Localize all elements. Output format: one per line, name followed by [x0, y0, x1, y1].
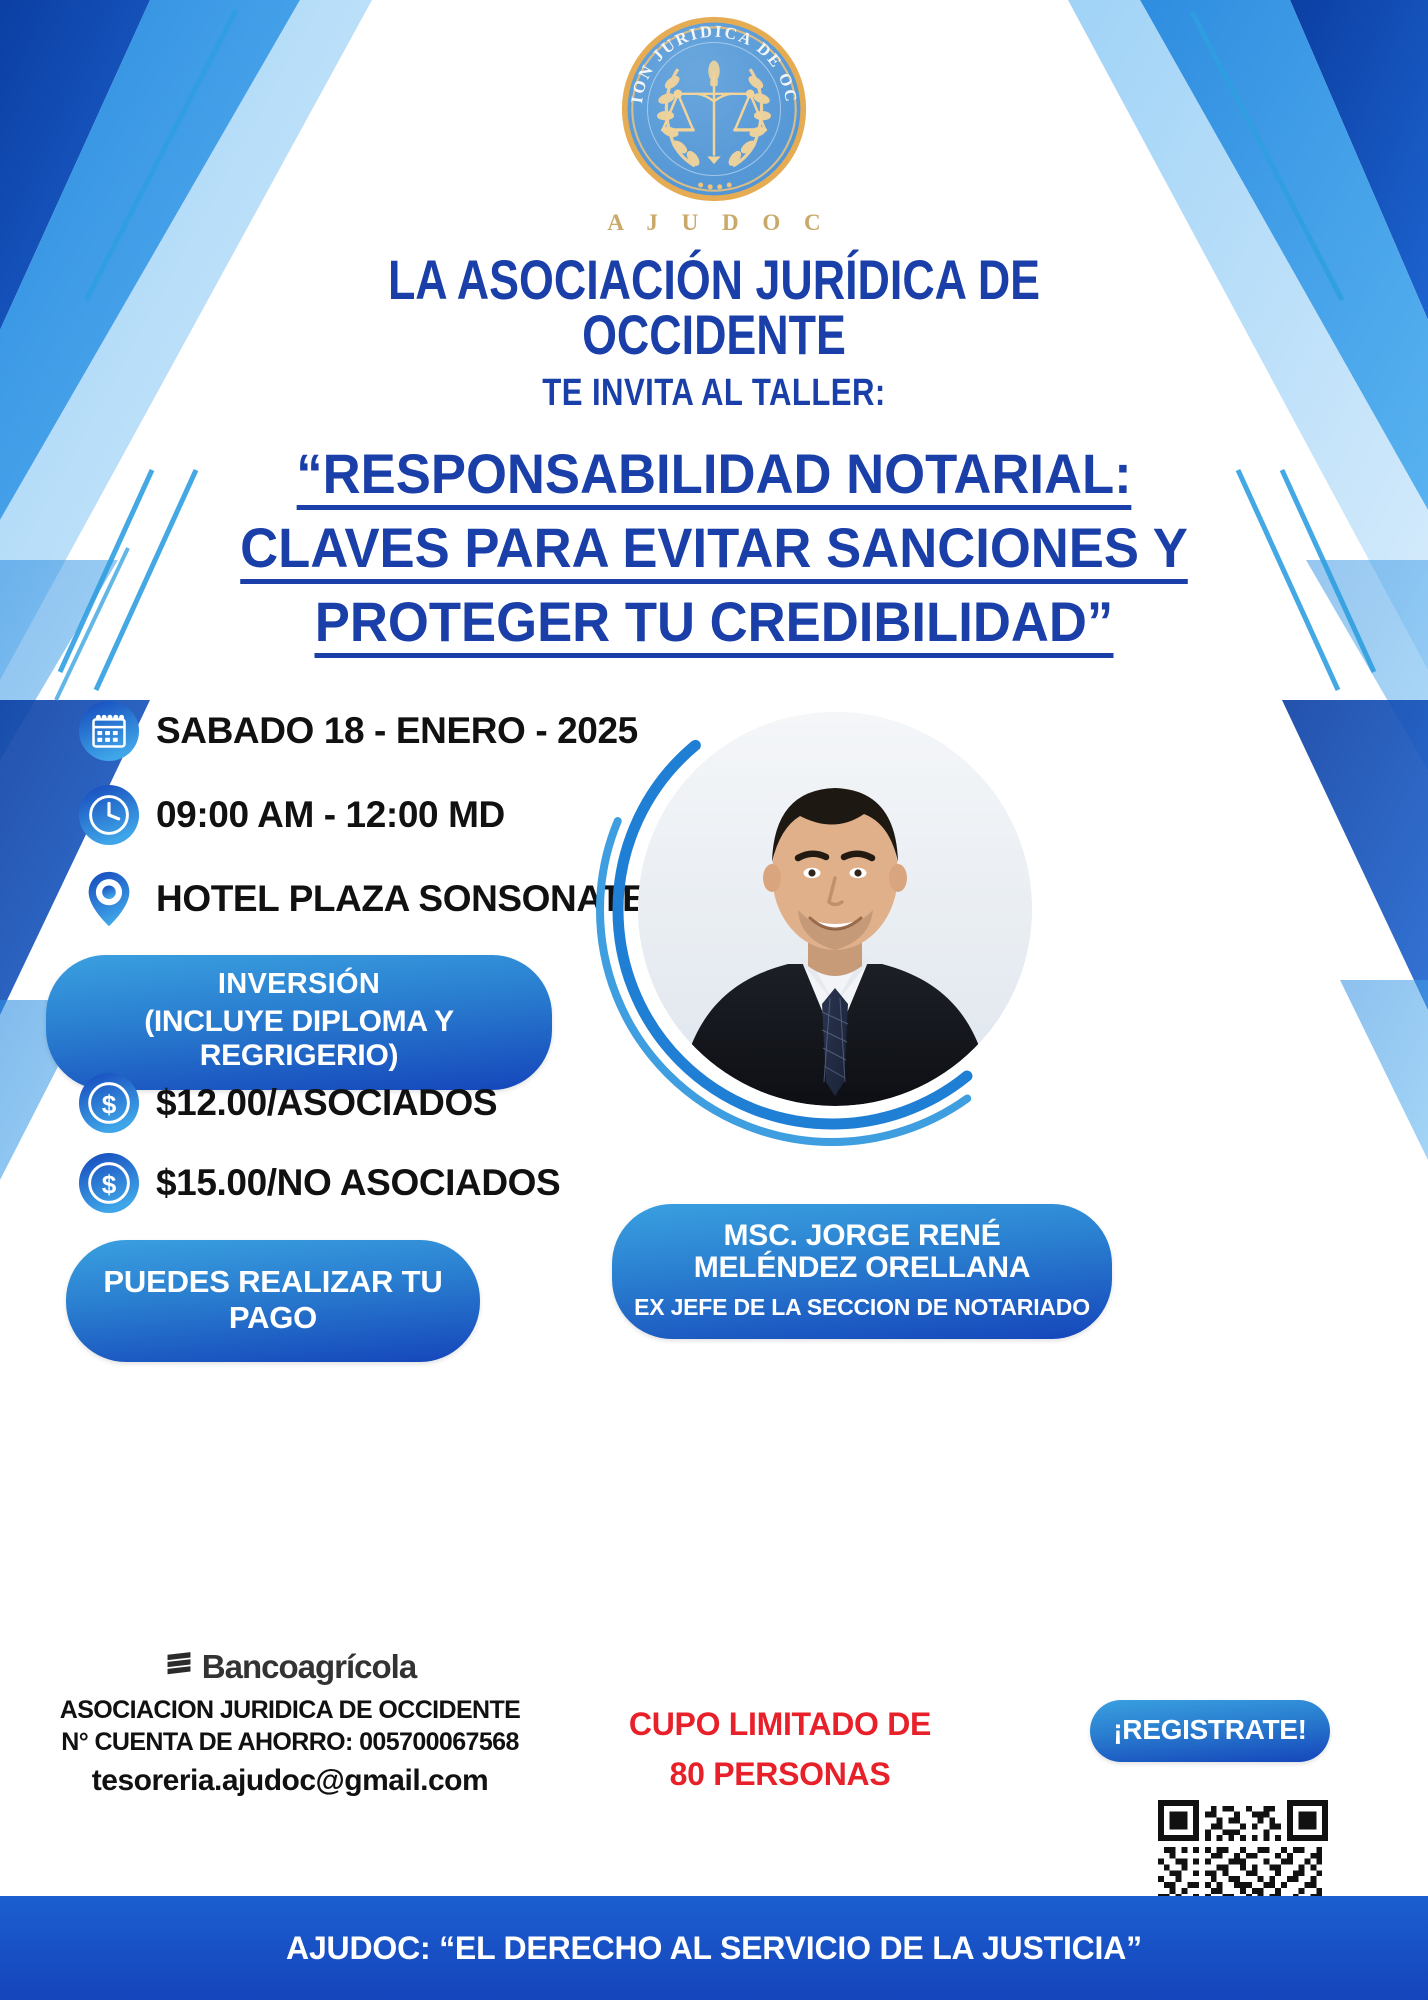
organization-title: LA ASOCIACIÓN JURÍDICA DE OCCIDENTE — [314, 252, 1114, 363]
contact-email[interactable]: tesoreria.ajudoc@gmail.com — [30, 1764, 550, 1798]
capacity-line2: 80 PERSONAS — [600, 1750, 960, 1800]
detail-row-date: SABADO 18 - ENERO - 2025 — [78, 700, 658, 762]
speaker-role: EX JEFE DE LA SECCION DE NOTARIADO — [612, 1294, 1112, 1321]
footer-slogan: AJUDOC: “EL DERECHO AL SERVICIO DE LA JU… — [286, 1930, 1142, 1967]
price-row-nonmembers: $ $15.00/NO ASOCIADOS — [78, 1152, 638, 1214]
location-pin-icon — [78, 868, 140, 930]
clock-icon — [78, 784, 140, 846]
org-title-line2: OCCIDENTE — [314, 307, 1114, 362]
event-details-list: SABADO 18 - ENERO - 2025 09:00 AM - 12:0… — [78, 700, 658, 952]
speaker-photo-frame — [592, 700, 1072, 1200]
ajudoc-logo: ASOCIACION JURIDICA DE OCCIDENTE — [0, 14, 1428, 236]
bancoagricola-wordmark: Bancoagrícola — [202, 1648, 416, 1686]
workshop-line-1: “RESPONSABILIDAD NOTARIAL: — [103, 437, 1325, 511]
ajudoc-seal-icon: ASOCIACION JURIDICA DE OCCIDENTE — [619, 14, 809, 204]
price-text-nonmembers: $15.00/NO ASOCIADOS — [156, 1162, 560, 1204]
workshop-title: “RESPONSABILIDAD NOTARIAL: CLAVES PARA E… — [64, 437, 1364, 659]
ajudoc-acronym: A J U D O C — [598, 210, 829, 236]
detail-row-time: 09:00 AM - 12:00 MD — [78, 784, 658, 846]
invitation-line: TE INVITA AL TALLER: — [386, 372, 1042, 415]
price-row-members: $ $12.00/ASOCIADOS — [78, 1072, 638, 1134]
calendar-icon — [78, 700, 140, 762]
bancoagricola-logo: Bancoagrícola — [30, 1648, 550, 1686]
investment-title: INVERSIÓN — [46, 968, 552, 1001]
price-list: $ $12.00/ASOCIADOS $ $15.00/NO ASOCIADOS — [78, 1072, 638, 1232]
workshop-line-3: PROTEGER TU CREDIBILIDAD” — [103, 585, 1325, 659]
speaker-avatar — [638, 712, 1032, 1106]
register-button[interactable]: ¡REGISTRATE! — [1090, 1700, 1330, 1762]
bank-account-holder: ASOCIACION JURIDICA DE OCCIDENTE — [30, 1696, 550, 1725]
detail-text-location: HOTEL PLAZA SONSONATE — [156, 878, 646, 920]
dollar-coin-icon: $ — [78, 1072, 140, 1134]
org-title-line1: LA ASOCIACIÓN JURÍDICA DE — [314, 252, 1114, 307]
capacity-notice: CUPO LIMITADO DE 80 PERSONAS — [600, 1700, 960, 1799]
svg-text:$: $ — [102, 1170, 117, 1200]
bank-details: Bancoagrícola ASOCIACION JURIDICA DE OCC… — [30, 1648, 550, 1798]
detail-text-time: 09:00 AM - 12:00 MD — [156, 794, 505, 836]
speaker-name-line2: MELÉNDEZ ORELLANA — [612, 1252, 1112, 1284]
bank-account-number: N° CUENTA DE AHORRO: 005700067568 — [30, 1728, 550, 1757]
detail-text-date: SABADO 18 - ENERO - 2025 — [156, 710, 638, 752]
payment-button[interactable]: PUEDES REALIZAR TU PAGO — [66, 1240, 480, 1362]
bancoagricola-mark-icon — [164, 1651, 194, 1683]
poster-canvas: ASOCIACION JURIDICA DE OCCIDENTE — [0, 0, 1428, 2000]
detail-row-location: HOTEL PLAZA SONSONATE — [78, 868, 658, 930]
speaker-name-line1: MSC. JORGE RENÉ — [612, 1220, 1112, 1252]
price-text-members: $12.00/ASOCIADOS — [156, 1082, 497, 1124]
speaker-name-badge: MSC. JORGE RENÉ MELÉNDEZ ORELLANA EX JEF… — [612, 1204, 1112, 1339]
workshop-line-2: CLAVES PARA EVITAR SANCIONES Y — [103, 511, 1325, 585]
footer-bar: AJUDOC: “EL DERECHO AL SERVICIO DE LA JU… — [0, 1896, 1428, 2000]
investment-badge: INVERSIÓN (INCLUYE DIPLOMA Y REGRIGERIO) — [46, 955, 552, 1090]
dollar-coin-icon: $ — [78, 1152, 140, 1214]
svg-text:$: $ — [102, 1090, 117, 1120]
investment-subtitle: (INCLUYE DIPLOMA Y REGRIGERIO) — [46, 1005, 552, 1073]
capacity-line1: CUPO LIMITADO DE — [600, 1700, 960, 1750]
